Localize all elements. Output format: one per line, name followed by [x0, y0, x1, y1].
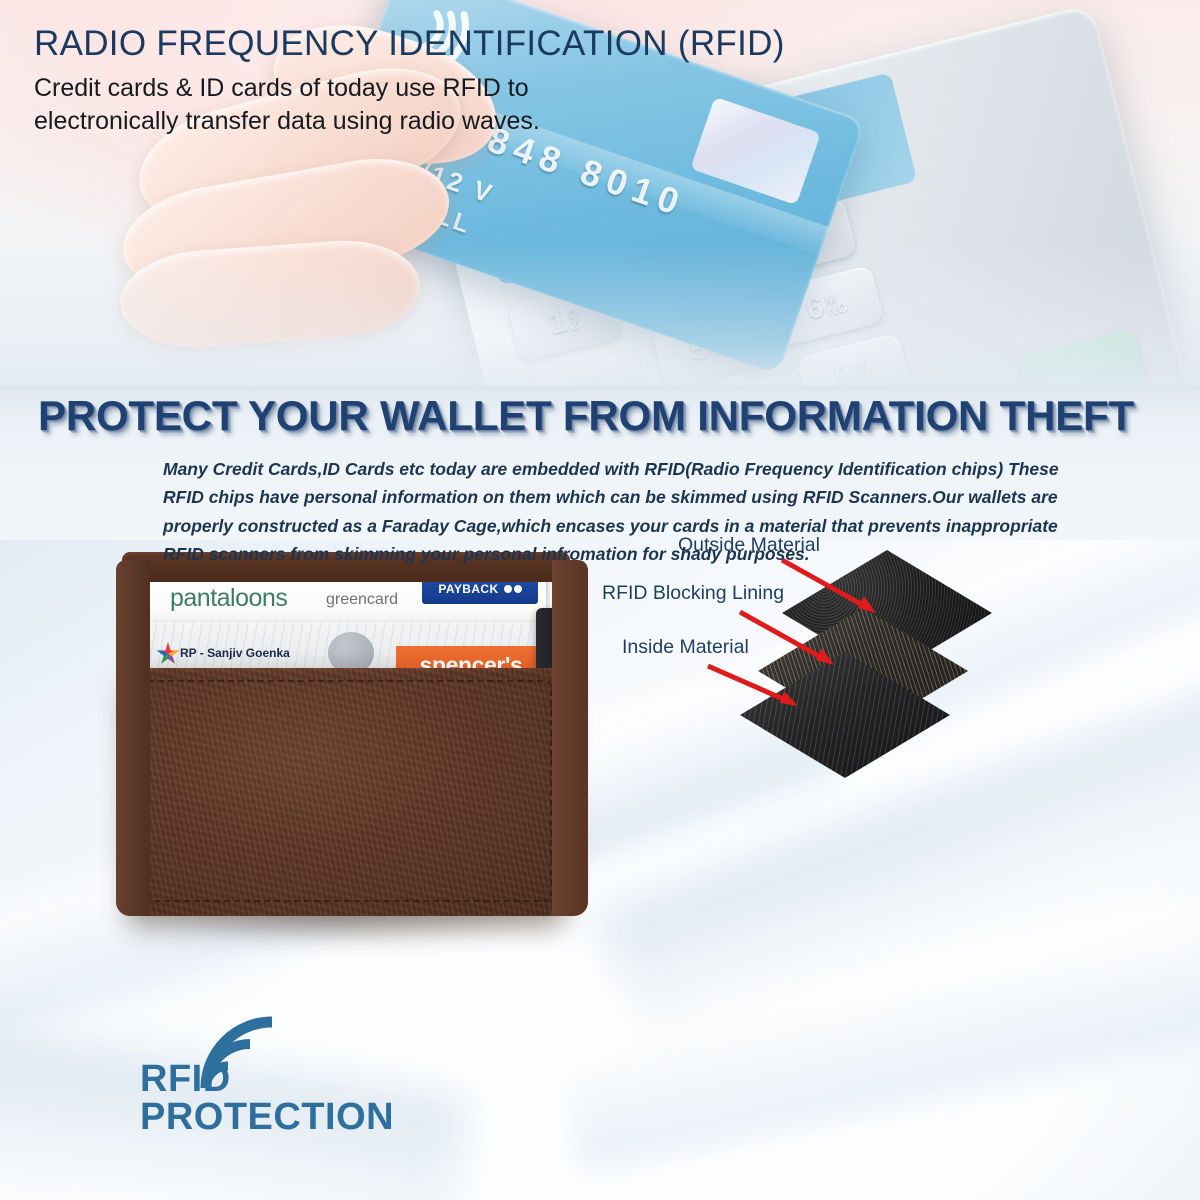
- payback-dots-icon: [504, 585, 522, 593]
- top-subtitle: Credit cards & ID cards of today use RFI…: [34, 72, 540, 138]
- top-subtitle-line-1: Credit cards & ID cards of today use RFI…: [34, 72, 540, 105]
- wallet-right-edge: [552, 560, 588, 916]
- payback-label: PAYBACK: [438, 582, 498, 596]
- middle-heading: PROTECT YOUR WALLET FROM INFORMATION THE…: [38, 392, 1134, 440]
- rfid-protection-logo: RFID PROTECTION: [140, 1022, 400, 1130]
- arrow-rfid-blocking-lining: [740, 612, 834, 665]
- rp-star-icon: [156, 642, 180, 666]
- arrow-inside-material: [708, 666, 798, 706]
- top-heading: RADIO FREQUENCY IDENTIFICATION (RFID): [34, 24, 785, 64]
- leather-wallet: pantaloons greencard PAYBACK RP - Sanjiv…: [118, 556, 588, 926]
- middle-body-text: Many Credit Cards,ID Cards etc today are…: [163, 455, 1063, 568]
- wallet-left-edge: [116, 560, 150, 916]
- label-rfid-blocking-lining: RFID Blocking Lining: [602, 582, 784, 605]
- card-brand-label: RP - Sanjiv Goenka: [180, 646, 290, 660]
- key-letters: Q Z: [567, 307, 583, 332]
- card-sub-label: greencard: [326, 591, 398, 609]
- infographic-page: 1 Q Z 2 A BC 3 D: [0, 0, 1200, 1200]
- label-inside-material: Inside Material: [622, 636, 749, 659]
- top-subtitle-line-2: electronically transfer data using radio…: [34, 105, 540, 138]
- terminal-enter-key: [1017, 329, 1148, 392]
- logo-line-1: RFID: [140, 1058, 231, 1101]
- logo-line-2: PROTECTION: [140, 1096, 394, 1139]
- wallet-front-pocket: [126, 668, 566, 916]
- card-brand-label: pantaloons: [170, 584, 287, 613]
- key-letters: M NO: [824, 290, 849, 317]
- key-letters: W XY: [852, 357, 875, 384]
- keypad-key-9: 9 W XY: [796, 332, 911, 392]
- hand-holding-card: [94, 9, 546, 381]
